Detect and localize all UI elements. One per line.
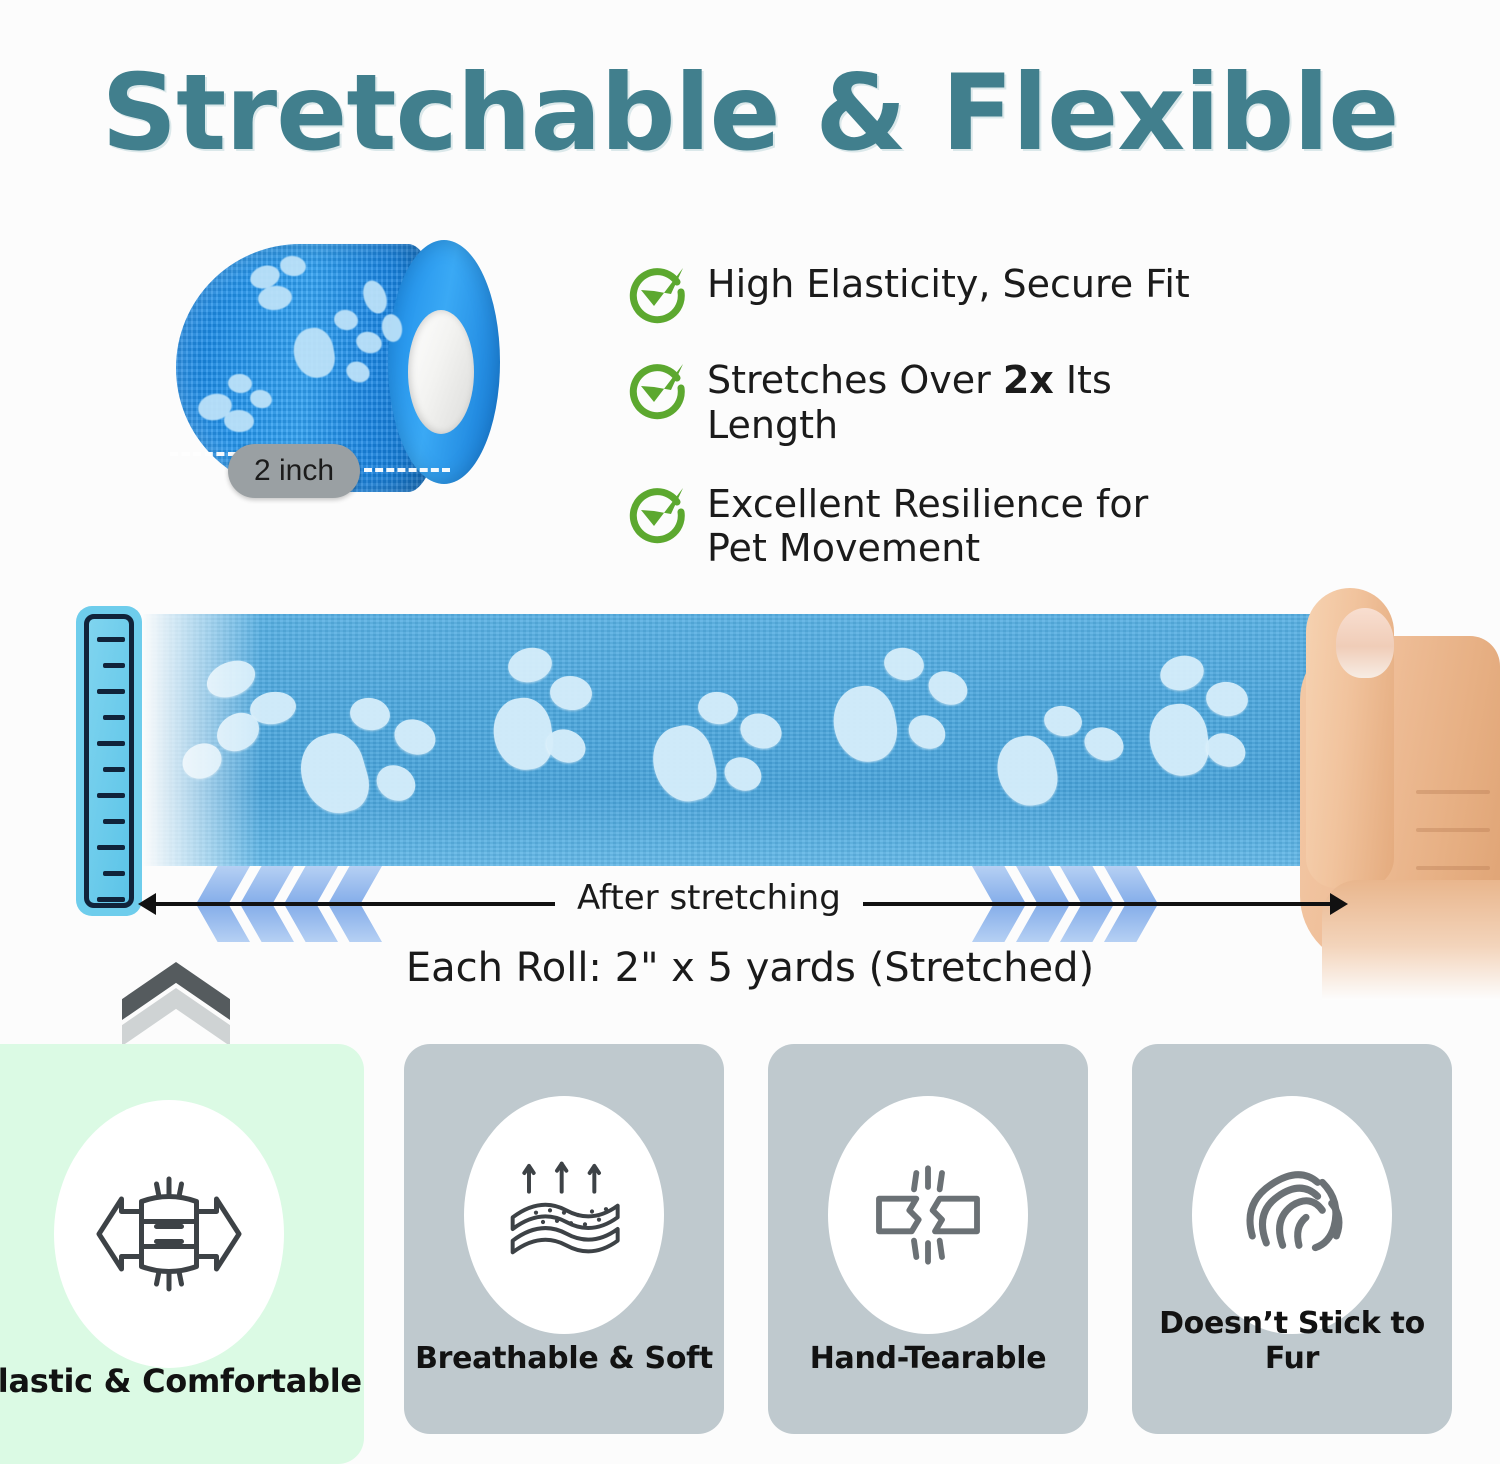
feature-card-label: Elastic & Comfortable [0, 1362, 364, 1400]
icon-blob [464, 1096, 664, 1334]
breathable-fabric-icon [494, 1145, 634, 1285]
bullet-text: Stretches Over 2x Its Length [707, 354, 1245, 448]
bullet-text: High Elasticity, Secure Fit [707, 258, 1190, 307]
thumbnail [1336, 608, 1394, 678]
feature-card-tearable[interactable]: Hand-Tearable [768, 1044, 1088, 1434]
tear-strip-icon [858, 1145, 998, 1285]
feature-card-label: Doesn’t Stick to Fur [1132, 1306, 1452, 1376]
feature-card-no-stick[interactable]: Doesn’t Stick to Fur [1132, 1044, 1452, 1434]
icon-blob [828, 1096, 1028, 1334]
icon-blob [54, 1100, 284, 1368]
fur-swirl-icon [1222, 1145, 1362, 1285]
list-item: High Elasticity, Secure Fit [625, 258, 1245, 324]
arrowhead-right-icon [1330, 893, 1348, 915]
green-check-icon [625, 480, 689, 544]
infographic-page: Stretchable & Flexible 2 [0, 0, 1500, 1464]
bullet-emphasis: 2x [1003, 358, 1054, 402]
up-chevron-marker-icon [118, 962, 238, 1042]
list-item: Excellent Resilience for Pet Movement [625, 478, 1245, 572]
feature-card-label: Hand-Tearable [768, 1341, 1088, 1376]
feature-card-label: Breathable & Soft [404, 1341, 724, 1376]
thumb [1306, 588, 1394, 888]
icon-blob [1192, 1096, 1392, 1334]
after-stretching-label: After stretching [555, 878, 863, 918]
ruler-graphic [76, 606, 142, 916]
ruler-face [84, 614, 134, 908]
roll-core [408, 310, 474, 434]
list-item: Stretches Over 2x Its Length [625, 354, 1245, 448]
size-badge: 2 inch [228, 444, 360, 498]
stretch-arrows-icon [94, 1159, 244, 1309]
page-title: Stretchable & Flexible [0, 58, 1500, 168]
green-check-icon [625, 260, 689, 324]
feature-card-elastic[interactable]: Elastic & Comfortable [0, 1044, 364, 1464]
bullet-text: Excellent Resilience for Pet Movement [707, 478, 1177, 572]
measure-dash-right [364, 468, 450, 472]
feature-card-breathable[interactable]: Breathable & Soft [404, 1044, 724, 1434]
stretched-tape-image [142, 614, 1322, 866]
product-roll-image: 2 inch [168, 236, 498, 506]
green-check-icon [625, 356, 689, 420]
hand-holding-tape [1292, 580, 1500, 1000]
feature-bullet-list: High Elasticity, Secure Fit Stretches Ov… [625, 258, 1245, 571]
feature-card-row: Elastic & Comfortable [0, 1044, 1500, 1464]
bullet-text-before: Stretches Over [707, 358, 1003, 402]
measure-dash-left [170, 452, 236, 456]
arrowhead-left-icon [138, 893, 156, 915]
